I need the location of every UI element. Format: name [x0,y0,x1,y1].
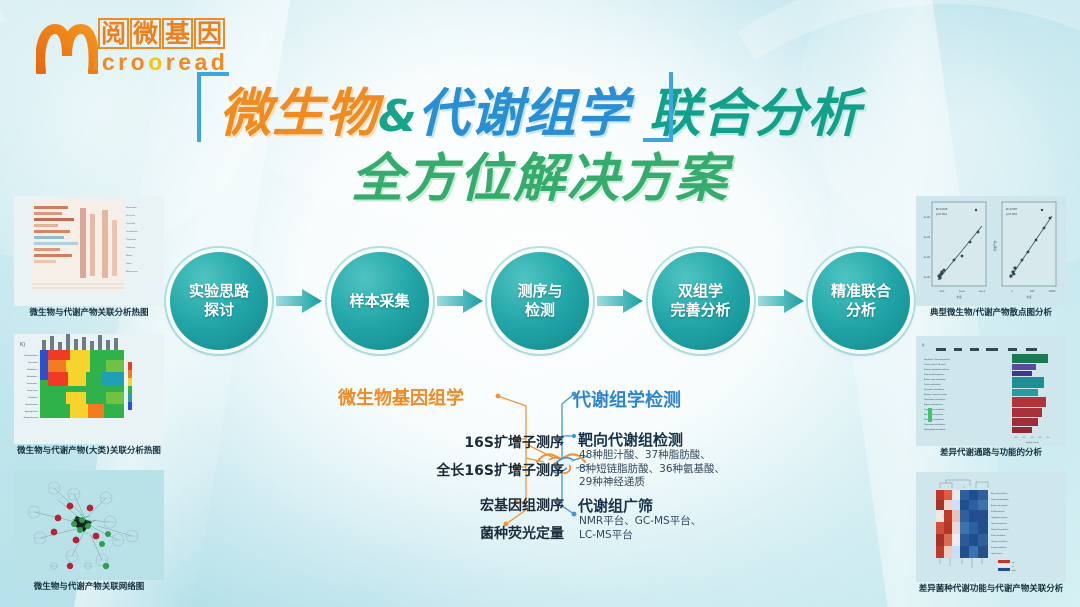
flow-step-3[interactable]: 测序与检测 [491,252,589,350]
workflow-diagram: 实验思路探讨 样本采集 测序与检测 双组学完善分析 精准联合分析 [170,243,910,359]
svg-text:丰度: 丰度 [1026,295,1032,299]
thumbnail-left-2-caption: 微生物与代谢产物(大类)关联分析热图 [14,446,164,457]
svg-text:Spirochaetes: Spirochaetes [25,403,39,406]
right-column-title: 代谢组学检测 [573,386,681,412]
flow-arrow-4 [752,288,811,314]
heatmap-tan-image: BacteroidesFirmicutesPrevotella Lactobac… [14,196,164,306]
svg-text:Bile acid metabolism: Bile acid metabolism [991,492,1008,495]
svg-text:Synergistetes: Synergistetes [25,410,39,413]
flow-step-1[interactable]: 实验思路探讨 [170,252,268,350]
brand-en-dot: o [148,49,166,75]
svg-text:Lactobacillus: Lactobacillus [126,230,138,233]
svg-text:丰度: 丰度 [956,295,962,299]
svg-text:Dorea: Dorea [126,263,132,265]
svg-text:1e-04: 1e-04 [923,255,930,259]
svg-text:Clostridium: Clostridium [126,238,136,241]
svg-text:Tryptophan metabolism: Tryptophan metabolism [924,408,945,411]
svg-text:Citrate cycle (TCA cycle): Citrate cycle (TCA cycle) [924,363,946,366]
thumbnail-right-3[interactable]: Bile acid metabolismFatty acid degradati… [916,472,1066,595]
thumbnail-left-2[interactable]: K) [14,334,164,457]
svg-text:Amino acid transport: Amino acid transport [991,504,1008,507]
svg-text:1e-02: 1e-02 [923,215,930,219]
svg-text:-log10(p value): -log10(p value) [1025,442,1039,444]
brand-en-post: read [166,49,229,75]
right-group-0-heading[interactable]: 靶向代谢组检测 [578,429,683,450]
svg-text:1e-03: 1e-03 [923,235,930,239]
svg-text:Glycan biosynthesis: Glycan biosynthesis [991,522,1007,525]
page-title: 微生物&代谢组学 联合分析 全方位解决方案 [0,84,1080,209]
svg-text:up: up [1012,562,1014,564]
svg-text:Verrucomic.: Verrucomic. [26,382,38,385]
svg-text:Roseburia: Roseburia [126,247,136,249]
svg-text:Prevotella: Prevotella [126,222,136,225]
svg-text:Alanine / aspartate metab.: Alanine / aspartate metab. [924,393,948,396]
flow-step-3-label: 测序与检测 [517,282,562,320]
svg-text:Pyrimidine metabolism: Pyrimidine metabolism [924,388,944,391]
brand-cn-char-0: 阅 [98,18,129,49]
svg-text:Purine metabolism: Purine metabolism [924,383,941,386]
flow-step-5[interactable]: 精准联合分析 [812,252,910,350]
flow-step-4-label: 双组学完善分析 [670,282,730,320]
headline-part-3: 联合分析 [649,84,861,144]
heatmap-rainbow-image: K) [14,334,164,444]
svg-text:Blautia: Blautia [126,254,133,257]
svg-text:Actinobact.: Actinobact. [27,375,38,378]
svg-text:Firmicutes: Firmicutes [126,214,135,217]
svg-text:down: down [1012,570,1016,572]
right-group-1-heading[interactable]: 代谢组广筛 [578,495,653,516]
svg-text:Glutathione metabolism: Glutathione metabolism [924,398,945,401]
brand-cn-char-2: 基 [162,18,193,49]
thumbnail-left-1[interactable]: BacteroidesFirmicutesPrevotella Lactobac… [14,196,164,319]
svg-text:R=0.636: R=0.636 [936,207,948,211]
left-item-0[interactable]: 16S扩增子测序 [464,432,564,452]
left-item-1[interactable]: 全长16S扩增子测序 [436,460,564,480]
svg-text:10000: 10000 [1048,289,1056,293]
svg-text:1e+1: 1e+1 [979,289,985,293]
right-group-0-body: 48种胆汁酸、37种脂肪酸、 8种短链脂肪酸、36种氨基酸、 29种神经递质 [579,449,725,490]
scatter-pair-image: R=0.636 p=0.001 1e-021e-03 1e-041e-05 [916,196,1066,306]
thumbnail-right-3-caption: 差异菌种代谢功能与代谢产物关联分析 [916,584,1066,595]
svg-text:Tenericutes: Tenericutes [27,389,39,392]
brand-en-name: icrooread [92,49,228,76]
svg-text:p=0.003: p=0.003 [1006,212,1017,216]
svg-text:代谢产物: 代谢产物 [993,240,997,251]
svg-text:Fatty acid degradation: Fatty acid degradation [991,498,1009,501]
svg-text:Euryarchaeota: Euryarchaeota [24,416,39,419]
svg-text:Butanoate metabolism: Butanoate metabolism [924,418,944,421]
brand-en-pre: icro [92,49,148,75]
brand-cn-char-1: 微 [130,18,161,49]
thumbnail-right-1-caption: 典型微生物/代谢产物散点图分析 [916,308,1066,319]
thumbnail-right-1[interactable]: R=0.636 p=0.001 1e-021e-03 1e-041e-05 [916,196,1066,319]
svg-text:Propanoate metabolism: Propanoate metabolism [924,423,945,426]
svg-text:ns: ns [1012,566,1014,568]
svg-text:Sphingolipid metabolism: Sphingolipid metabolism [924,428,946,431]
svg-text:Nitrogen metabolism: Nitrogen metabolism [991,540,1008,543]
thumbnail-right-2-caption: 差异代谢通路与功能的分析 [916,448,1066,459]
svg-text:1e-05: 1e-05 [923,275,930,279]
svg-text:Energy metabolism: Energy metabolism [991,546,1007,549]
left-item-3[interactable]: 菌种荧光定量 [480,523,564,543]
svg-text:Pentose phosphate pathway: Pentose phosphate pathway [924,368,949,371]
svg-text:Fatty acid biosynthesis: Fatty acid biosynthesis [924,373,944,376]
horizontal-bar-chart-image: I) Glycolysis / Gluconeogenesis Citrate … [916,336,1066,446]
svg-text:Amino sugar metabolism: Amino sugar metabolism [924,378,946,381]
right-group-1-body: NMR平台、GC-MS平台、 LC-MS平台 [579,515,701,542]
svg-text:Bacteroides: Bacteroides [126,206,137,209]
thumbnail-left-3[interactable]: 微生物与代谢产物关联网络图 [14,470,164,593]
svg-text:1e+0: 1e+0 [959,289,965,293]
flow-arrow-3 [591,288,650,314]
svg-text:Bacteroidetes: Bacteroidetes [25,354,39,357]
flow-arrow-2 [431,288,490,314]
svg-text:p=0.001: p=0.001 [936,212,947,216]
left-column-title: 微生物基因组学 [338,384,464,410]
flow-step-2-label: 样本采集 [349,292,409,311]
svg-text:Bile acid biosynthesis: Bile acid biosynthesis [924,413,943,416]
headline-part-2: 代谢组学 [418,84,630,144]
brand-cn-name: 阅 微 基 因 [98,18,225,49]
flow-step-4[interactable]: 双组学完善分析 [652,252,750,350]
flow-step-5-label: 精准联合分析 [831,282,891,320]
headline-part-1: 微生物 [219,84,378,144]
poster-canvas: 阅 微 基 因 icrooread 微生物&代谢组学 联合分析 全方位解决方案 … [0,0,1080,607]
svg-text:Proteobact.: Proteobact. [27,368,39,371]
thumbnail-left-3-caption: 微生物与代谢产物关联网络图 [14,582,164,593]
svg-text:Sulfur metabolism: Sulfur metabolism [991,534,1006,537]
svg-text:100: 100 [1030,289,1035,293]
svg-text:Akkermansia: Akkermansia [126,270,138,273]
flow-arrow-1 [270,288,329,314]
microread-m-icon [36,22,98,74]
thumbnail-right-2[interactable]: I) Glycolysis / Gluconeogenesis Citrate … [916,336,1066,459]
brand-cn-char-3: 因 [194,18,225,49]
brand-logo[interactable]: 阅 微 基 因 icrooread [36,16,231,82]
svg-text:R=0.587: R=0.587 [1006,207,1018,211]
svg-text:Vitamin B metabolism: Vitamin B metabolism [991,528,1009,531]
headline-line-1: 微生物&代谢组学 联合分析 [219,84,861,147]
headline-ampersand: & [378,91,417,142]
network-graph-image [14,470,164,580]
flow-step-1-label: 实验思路探讨 [189,282,249,320]
thumbnail-left-1-caption: 微生物与代谢产物关联分析热图 [14,308,164,319]
svg-text:Lipid transport: Lipid transport [991,552,1003,555]
svg-text:K): K) [20,342,25,348]
svg-text:1e-1: 1e-1 [939,289,945,293]
heatmap-redblue-image: Bile acid metabolismFatty acid degradati… [916,472,1066,582]
svg-text:Fusobact.: Fusobact. [28,396,38,399]
left-item-2[interactable]: 宏基因组测序 [480,495,564,515]
service-detail-section: 微生物基因组学 16S扩增子测序 全长16S扩增子测序 宏基因组测序 菌种荧光定… [330,384,760,559]
flow-step-2[interactable]: 样本采集 [331,252,429,350]
svg-text:Arginine biosynthesis: Arginine biosynthesis [924,403,943,406]
svg-text:Tryptophan pathway: Tryptophan pathway [991,516,1007,519]
svg-text:Glycolysis / Gluconeogenesis: Glycolysis / Gluconeogenesis [924,359,950,361]
svg-text:Firmicutes: Firmicutes [28,361,39,364]
svg-text:SCFA production: SCFA production [991,510,1004,513]
